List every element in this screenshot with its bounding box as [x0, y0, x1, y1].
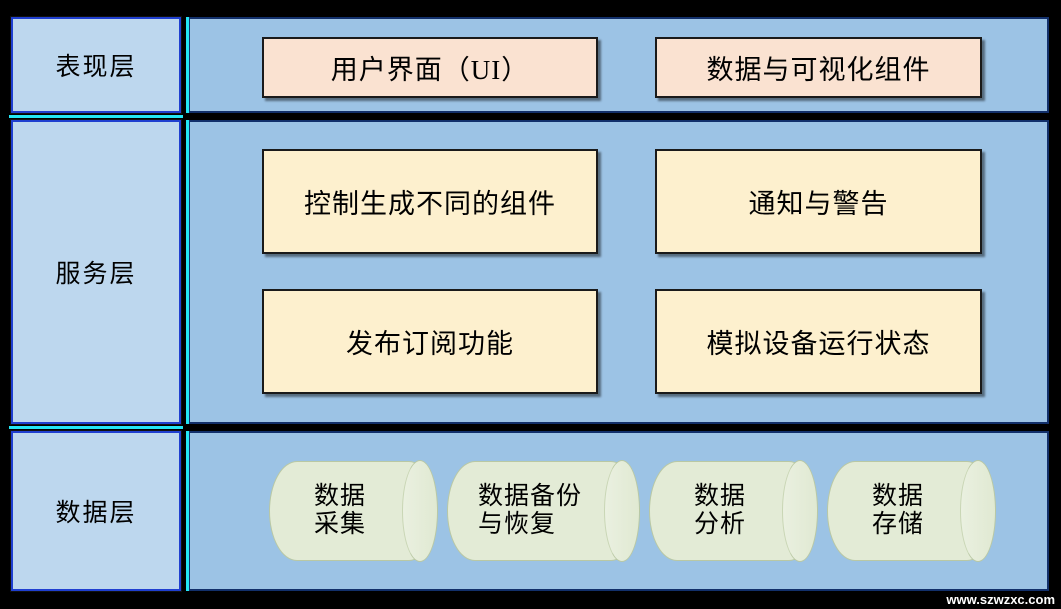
node-device-sim-label: 模拟设备运行状态: [707, 322, 931, 361]
cylinder-data-storage-label: 数据 存储: [827, 461, 995, 561]
layer-panel-data: 数据 采集 数据备份 与恢复 数据 分析 数据 存储: [188, 431, 1049, 591]
site-watermark: www.szwzxc.com: [946, 592, 1055, 607]
layer-label-presentation: 表现层: [11, 17, 181, 113]
node-device-sim[interactable]: 模拟设备运行状态: [655, 289, 982, 394]
cylinder-data-backup-restore-label: 数据备份 与恢复: [447, 461, 639, 561]
node-data-visual[interactable]: 数据与可视化组件: [655, 37, 982, 98]
cylinder-data-backup-restore[interactable]: 数据备份 与恢复: [447, 461, 639, 561]
cylinder-data-storage[interactable]: 数据 存储: [827, 461, 995, 561]
node-notify-alert-label: 通知与警告: [749, 182, 889, 221]
layer-label-service: 服务层: [11, 120, 181, 424]
node-component-control-label: 控制生成不同的组件: [304, 182, 556, 221]
node-data-visual-label: 数据与可视化组件: [707, 48, 931, 87]
layer-panel-presentation: 用户界面（UI） 数据与可视化组件: [188, 17, 1049, 113]
cylinder-data-collect-label: 数据 采集: [269, 461, 437, 561]
layer-label-data-text: 数据层: [55, 493, 136, 529]
divider-presentation-service: [9, 115, 183, 118]
layer-label-presentation-text: 表现层: [55, 47, 136, 83]
node-ui-label: 用户界面（UI）: [331, 48, 530, 87]
layer-panel-service: 控制生成不同的组件 通知与警告 发布订阅功能 模拟设备运行状态: [188, 120, 1049, 424]
layer-label-data: 数据层: [11, 431, 181, 591]
node-ui[interactable]: 用户界面（UI）: [262, 37, 598, 98]
cylinder-data-analysis[interactable]: 数据 分析: [649, 461, 817, 561]
node-pubsub[interactable]: 发布订阅功能: [262, 289, 598, 394]
node-pubsub-label: 发布订阅功能: [346, 322, 514, 361]
node-notify-alert[interactable]: 通知与警告: [655, 149, 982, 254]
cylinder-data-collect[interactable]: 数据 采集: [269, 461, 437, 561]
cylinder-data-analysis-label: 数据 分析: [649, 461, 817, 561]
layer-label-service-text: 服务层: [55, 254, 136, 290]
divider-service-data: [9, 426, 183, 429]
node-component-control[interactable]: 控制生成不同的组件: [262, 149, 598, 254]
